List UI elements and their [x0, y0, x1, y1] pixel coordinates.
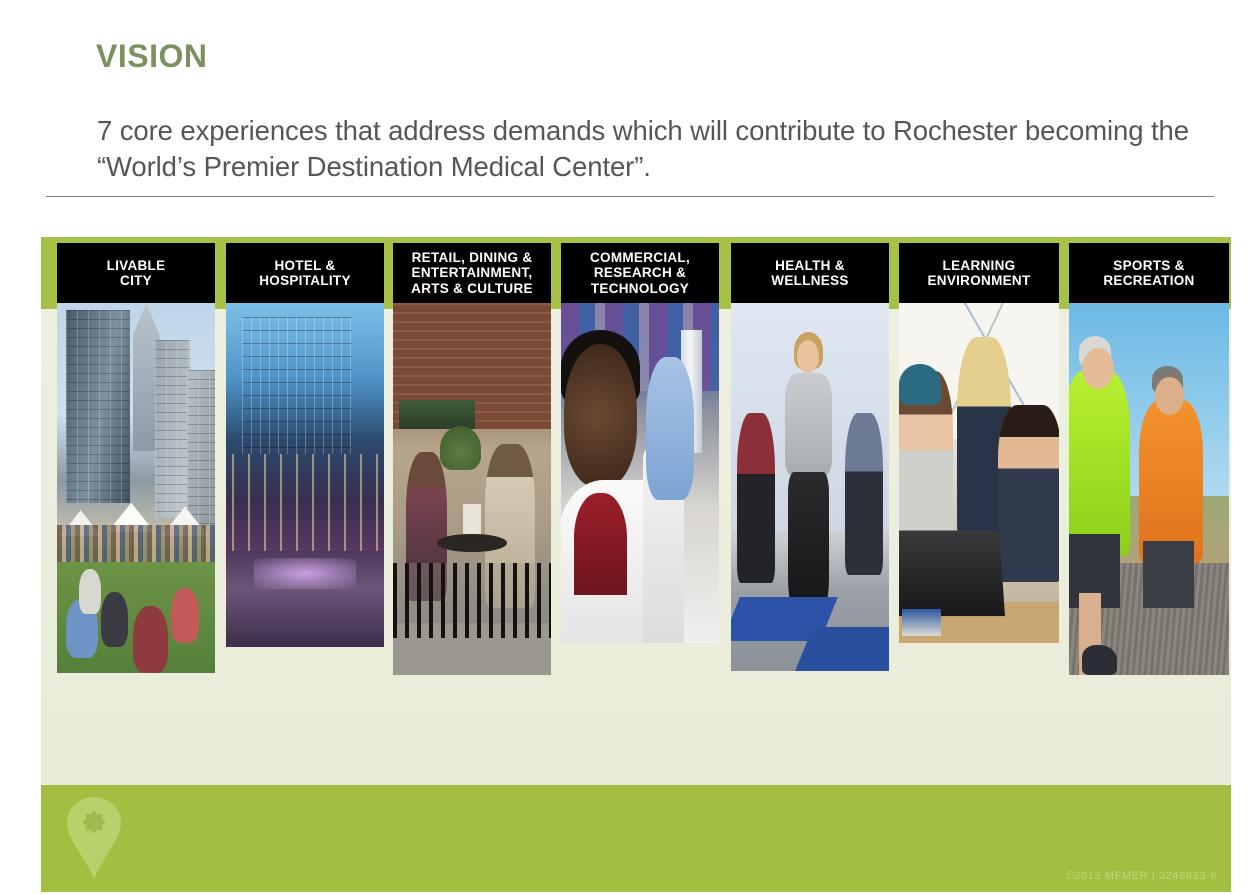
- column-header-retail-dining: RETAIL, DINING & ENTERTAINMENT, ARTS & C…: [393, 243, 551, 303]
- header-line: CITY: [120, 273, 152, 288]
- column-header-health-wellness: HEALTH & WELLNESS: [731, 243, 889, 303]
- page-title: VISION: [96, 38, 207, 75]
- header-line: SPORTS &: [1113, 258, 1184, 273]
- column-header-hotel-hospitality: HOTEL & HOSPITALITY: [226, 243, 384, 303]
- title-divider-rule: [46, 196, 1214, 197]
- copyright-text: ©2013 MFMER | 3246823-6: [1066, 870, 1217, 882]
- photo-hotel-hospitality: [226, 303, 384, 647]
- column-commercial-research[interactable]: COMMERCIAL, RESEARCH & TECHNOLOGY: [561, 243, 719, 643]
- header-line: WELLNESS: [771, 273, 848, 288]
- header-line: HOSPITALITY: [259, 273, 351, 288]
- header-line: TECHNOLOGY: [591, 281, 689, 296]
- header-line: HOTEL &: [274, 258, 335, 273]
- column-livable-city[interactable]: LIVABLE CITY: [57, 243, 215, 673]
- slide-subtitle: 7 core experiences that address demands …: [97, 113, 1212, 185]
- photo-livable-city: [57, 303, 215, 673]
- column-health-wellness[interactable]: HEALTH & WELLNESS: [731, 243, 889, 671]
- header-line: RESEARCH &: [594, 265, 686, 280]
- photo-commercial-research: [561, 303, 719, 643]
- header-line: ENTERTAINMENT,: [412, 265, 533, 280]
- map-pin-asterisk-logo: [63, 795, 125, 881]
- column-header-livable-city: LIVABLE CITY: [57, 243, 215, 303]
- column-learning-environment[interactable]: LEARNING ENVIRONMENT: [899, 243, 1059, 643]
- column-header-commercial-research: COMMERCIAL, RESEARCH & TECHNOLOGY: [561, 243, 719, 303]
- header-line: LIVABLE: [107, 258, 166, 273]
- column-header-learning-environment: LEARNING ENVIRONMENT: [899, 243, 1059, 303]
- photo-learning-environment: [899, 303, 1059, 643]
- column-sports-recreation[interactable]: SPORTS & RECREATION: [1069, 243, 1229, 675]
- photo-sports-recreation: [1069, 303, 1229, 675]
- photo-retail-dining: [393, 303, 551, 675]
- column-header-sports-recreation: SPORTS & RECREATION: [1069, 243, 1229, 303]
- header-line: RETAIL, DINING &: [412, 250, 533, 265]
- photo-health-wellness: [731, 303, 889, 671]
- header-line: ENVIRONMENT: [927, 273, 1030, 288]
- column-retail-dining[interactable]: RETAIL, DINING & ENTERTAINMENT, ARTS & C…: [393, 243, 551, 675]
- experiences-panel: LIVABLE CITY HOTEL & HOSPITALITY: [41, 237, 1231, 787]
- header-line: LEARNING: [943, 258, 1016, 273]
- header-line: ARTS & CULTURE: [411, 281, 533, 296]
- column-hotel-hospitality[interactable]: HOTEL & HOSPITALITY: [226, 243, 384, 647]
- header-line: COMMERCIAL,: [590, 250, 690, 265]
- footer-bar: ©2013 MFMER | 3246823-6: [41, 785, 1231, 892]
- header-line: HEALTH &: [775, 258, 845, 273]
- header-line: RECREATION: [1103, 273, 1194, 288]
